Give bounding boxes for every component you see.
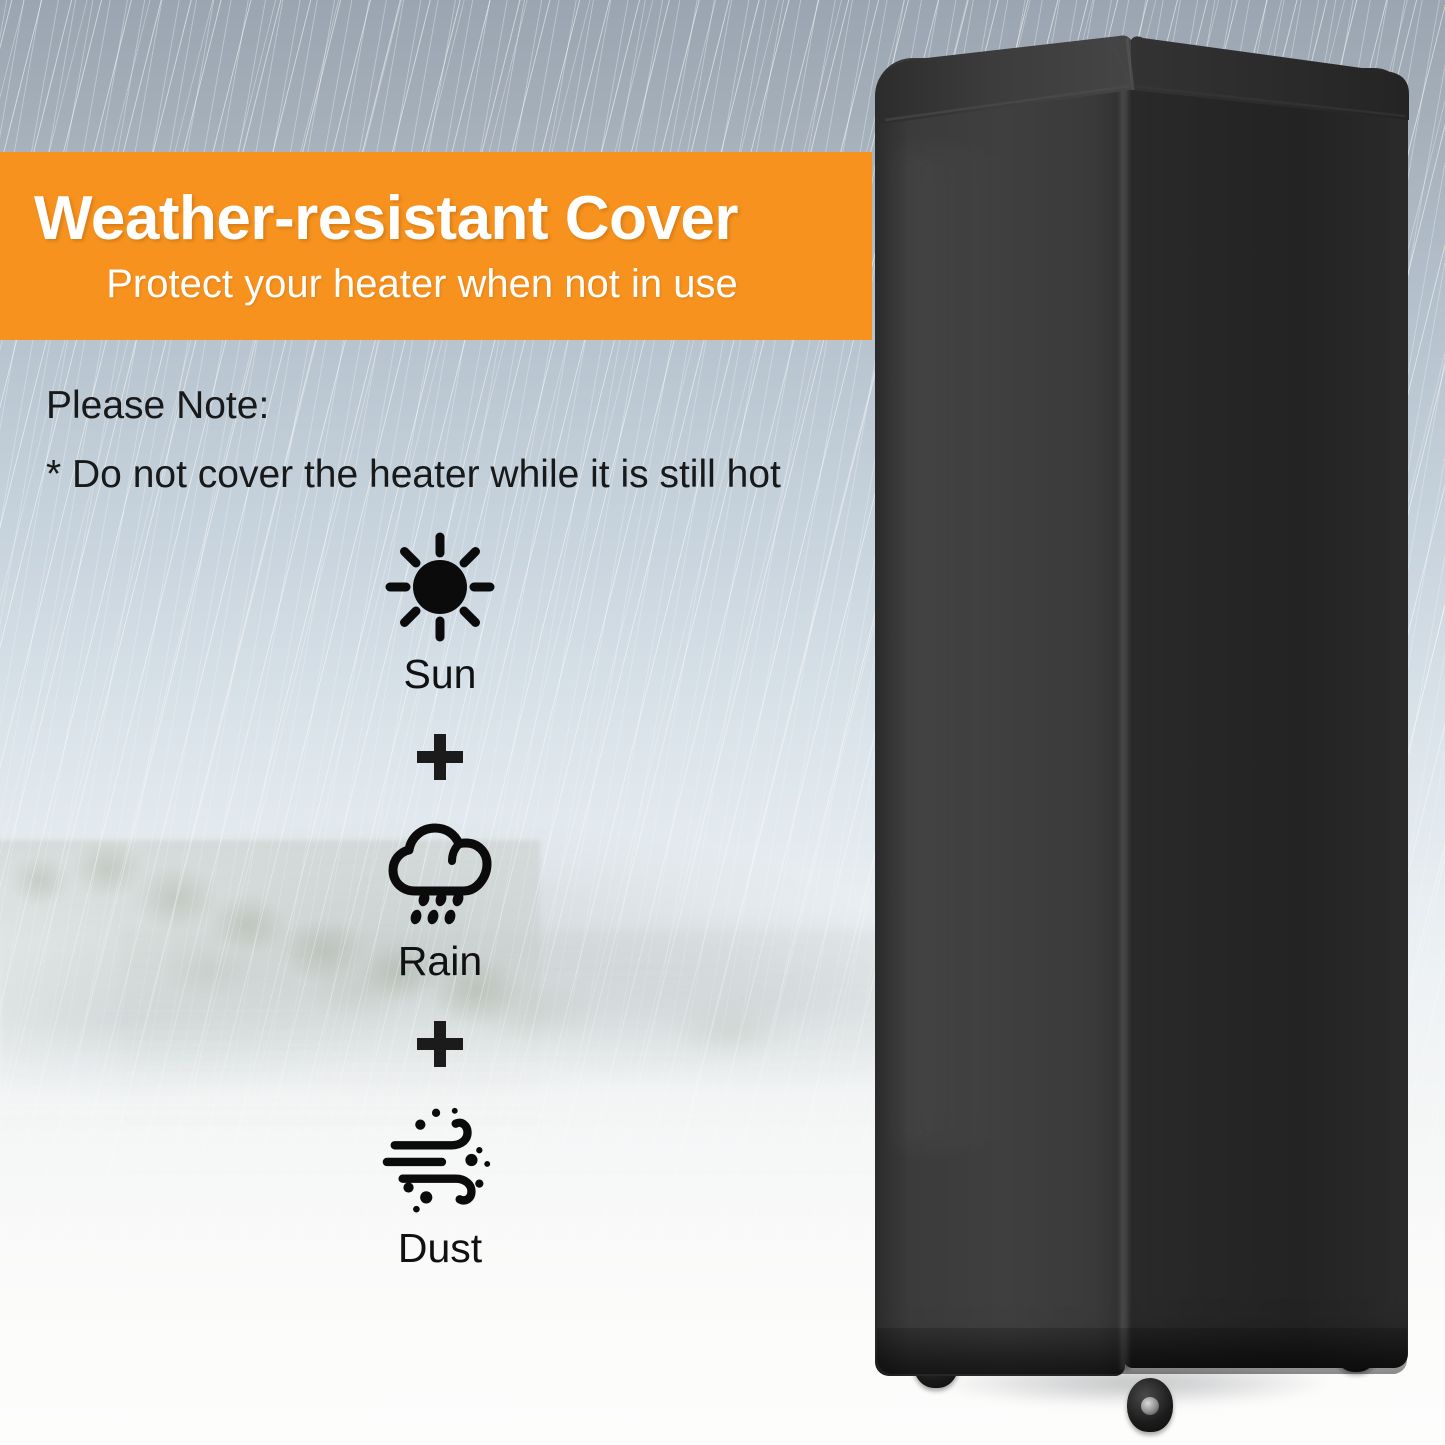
feature-stack: Sun (250, 528, 630, 1269)
headline-banner: Weather-resistant Cover Protect your hea… (0, 152, 872, 340)
banner-subtitle: Protect your heater when not in use (0, 264, 872, 304)
cover-top-cap (875, 28, 1409, 178)
banner-title: Weather-resistant Cover (0, 188, 872, 250)
caster-hub (1141, 1397, 1159, 1415)
plus-separator-1 (408, 725, 472, 789)
feature-sun: Sun (381, 528, 499, 695)
feature-label-rain: Rain (398, 941, 482, 982)
rain-cloud-icon (381, 815, 499, 933)
note-heading: Please Note: (46, 386, 866, 427)
sun-icon (381, 528, 499, 646)
feature-label-sun: Sun (404, 654, 477, 695)
dust-wind-icon (381, 1102, 499, 1220)
product-marketing-image: Weather-resistant Cover Protect your hea… (0, 0, 1445, 1445)
cover-sheen (897, 148, 1017, 1148)
feature-label-dust: Dust (398, 1228, 482, 1269)
cover-side-face (1123, 68, 1408, 1368)
cover-fold-edge (1118, 70, 1130, 1370)
patio-heater-cover (865, 18, 1405, 1418)
please-note-block: Please Note: * Do not cover the heater w… (46, 386, 866, 496)
note-line: * Do not cover the heater while it is st… (46, 455, 866, 496)
cover-body (875, 28, 1399, 1388)
feature-dust: Dust (381, 1102, 499, 1269)
cover-bottom-hem (877, 1328, 1407, 1374)
plus-separator-2 (408, 1012, 472, 1076)
feature-rain: Rain (381, 815, 499, 982)
